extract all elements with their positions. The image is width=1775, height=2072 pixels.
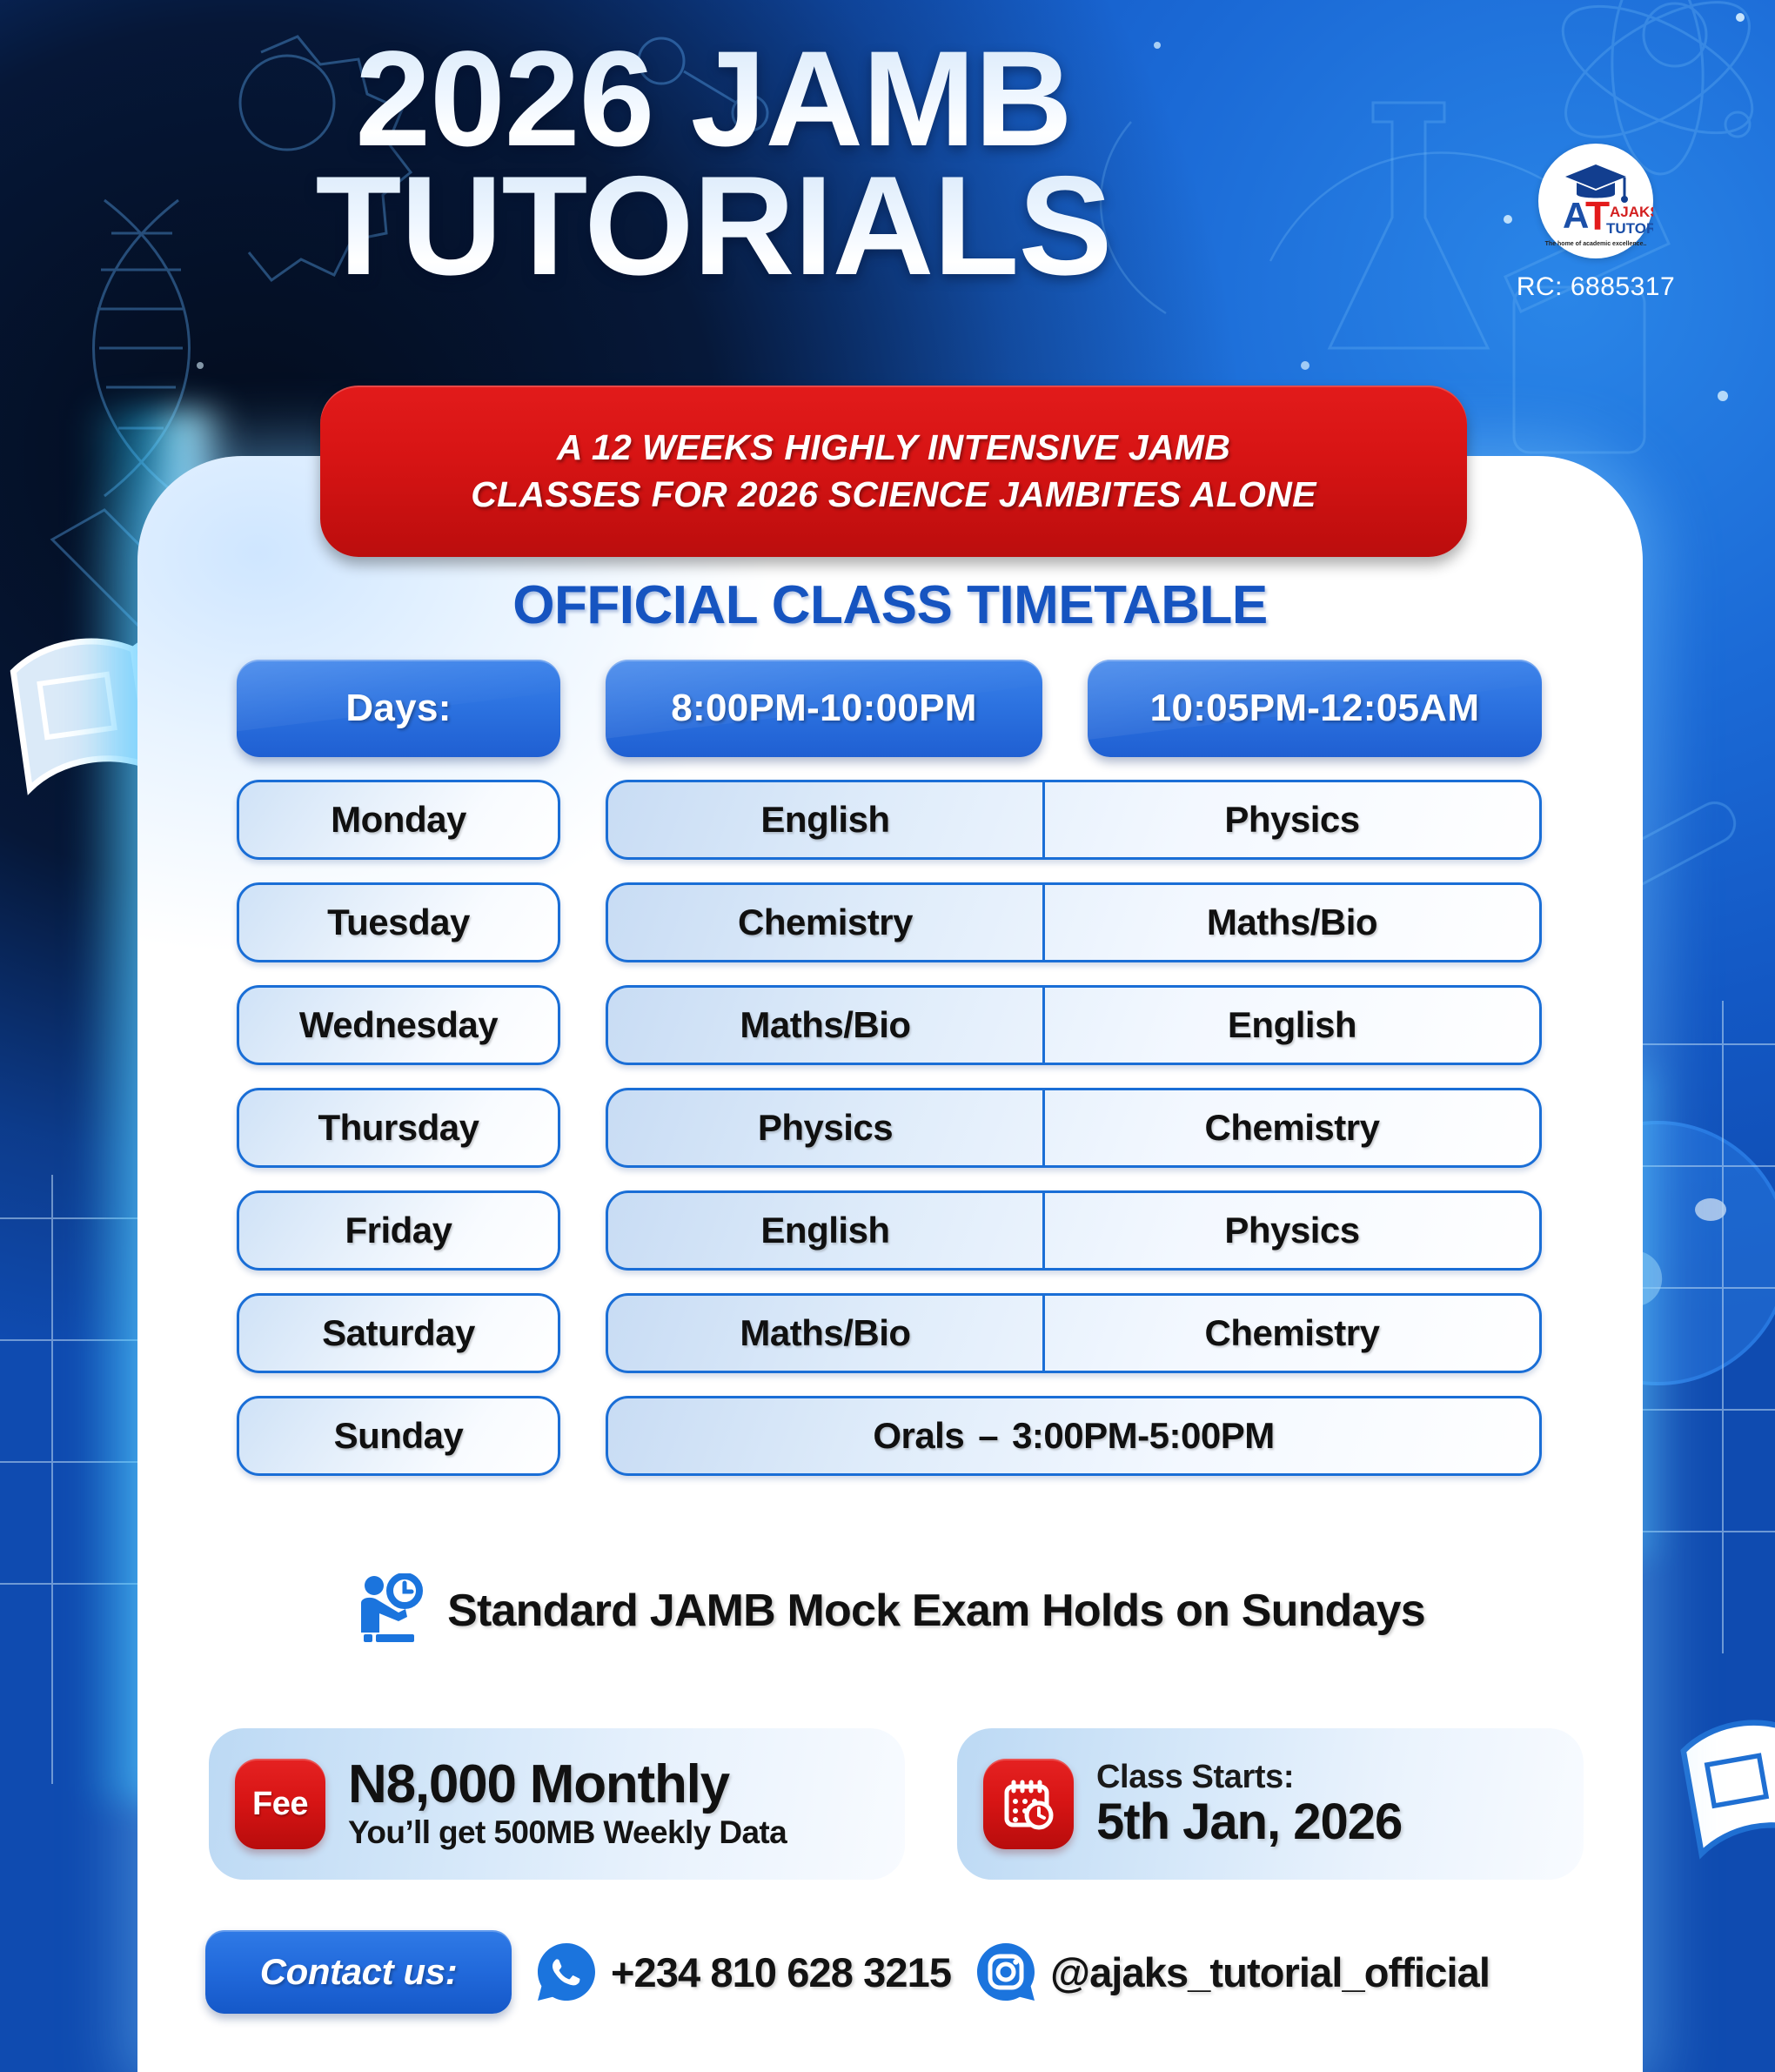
table-row: Wednesday Maths/Bio English	[237, 985, 1542, 1065]
instagram-handle[interactable]: @ajaks_tutorial_official	[1050, 1948, 1490, 1996]
phone-number[interactable]: +234 810 628 3215	[611, 1948, 951, 1996]
whatsapp-icon[interactable]	[534, 1940, 599, 2004]
subject-slot-2: Physics	[1045, 1193, 1539, 1268]
fee-badge-label: Fee	[252, 1786, 308, 1823]
promo-banner-line-2: CLASSES FOR 2026 SCIENCE JAMBITES ALONE	[471, 472, 1316, 518]
fee-data-amount: 500MB	[493, 1814, 594, 1850]
poster-title: 2026 JAMB TUTORIALS	[0, 40, 1427, 289]
subject-cells: Physics Chemistry	[606, 1088, 1542, 1168]
day-label: Monday	[331, 799, 466, 841]
subject-slot-2: Physics	[1045, 782, 1539, 857]
day-cell: Sunday	[237, 1396, 560, 1476]
svg-text:TUTORIALS: TUTORIALS	[1606, 220, 1653, 237]
timetable-header-row: Days: 8:00PM-10:00PM 10:05PM-12:05AM	[237, 660, 1542, 757]
subject-slot-1: Maths/Bio	[608, 988, 1045, 1063]
orals-label: Orals	[873, 1415, 964, 1457]
column-header-slot-2-label: 10:05PM-12:05AM	[1150, 687, 1480, 730]
day-label: Sunday	[334, 1415, 464, 1457]
subject-cells-merged: Orals – 3:00PM-5:00PM	[606, 1396, 1542, 1476]
subject-cells: Maths/Bio Chemistry	[606, 1293, 1542, 1373]
info-cards: Fee N8,000 Monthly You’ll get 500MB Week…	[209, 1728, 1584, 1880]
student-desk-clock-icon	[353, 1573, 428, 1648]
class-timetable: Days: 8:00PM-10:00PM 10:05PM-12:05AM Mon…	[237, 660, 1542, 1499]
title-line-2: TUTORIALS	[0, 164, 1427, 289]
instagram-icon[interactable]	[974, 1940, 1038, 2004]
contact-bar: Contact us: +234 810 628 3215 @ajaks_tut…	[205, 1930, 1597, 2014]
table-row: Thursday Physics Chemistry	[237, 1088, 1542, 1168]
subject-cells: English Physics	[606, 1190, 1542, 1271]
subject-slot-1: Chemistry	[608, 885, 1045, 960]
day-cell: Monday	[237, 780, 560, 860]
logo-badge: A T AJAKS TUTORIALS The home of academic…	[1538, 144, 1653, 258]
orals-time: 3:00PM-5:00PM	[1012, 1415, 1275, 1457]
day-cell: Saturday	[237, 1293, 560, 1373]
day-label: Tuesday	[327, 902, 470, 943]
day-cell: Wednesday	[237, 985, 560, 1065]
subject-slot-1: English	[608, 782, 1045, 857]
table-row-sunday: Sunday Orals – 3:00PM-5:00PM	[237, 1396, 1542, 1476]
day-label: Saturday	[322, 1312, 475, 1354]
subject-slot-2: Maths/Bio	[1045, 885, 1539, 960]
fee-badge-icon: Fee	[235, 1759, 325, 1849]
whatsapp-contact[interactable]: +234 810 628 3215	[534, 1940, 951, 2004]
poster-root: 2026 JAMB TUTORIALS A T AJAKS TUTORIALS …	[0, 0, 1775, 2072]
table-row: Tuesday Chemistry Maths/Bio	[237, 882, 1542, 962]
day-cell: Friday	[237, 1190, 560, 1271]
fee-card: Fee N8,000 Monthly You’ll get 500MB Week…	[209, 1728, 905, 1880]
subject-slot-1: Physics	[608, 1090, 1045, 1165]
instagram-contact[interactable]: @ajaks_tutorial_official	[974, 1940, 1490, 2004]
start-date-label: Class Starts:	[1096, 1760, 1402, 1795]
table-row: Monday English Physics	[237, 780, 1542, 860]
subject-slot-2: Chemistry	[1045, 1090, 1539, 1165]
start-date-value: 5th Jan, 2026	[1096, 1795, 1402, 1848]
day-cell: Tuesday	[237, 882, 560, 962]
subject-cells: Maths/Bio English	[606, 985, 1542, 1065]
brand-logo: A T AJAKS TUTORIALS The home of academic…	[1509, 144, 1683, 302]
table-row: Saturday Maths/Bio Chemistry	[237, 1293, 1542, 1373]
table-row: Friday English Physics	[237, 1190, 1542, 1271]
column-header-days-label: Days:	[345, 687, 451, 730]
subject-slot-1: Maths/Bio	[608, 1296, 1045, 1371]
mock-exam-note-text: Standard JAMB Mock Exam Holds on Sundays	[447, 1585, 1425, 1637]
page-title: OFFICIAL CLASS TIMETABLE	[137, 574, 1643, 636]
svg-text:AJAKS: AJAKS	[1610, 204, 1653, 220]
subject-slot-2: Chemistry	[1045, 1296, 1539, 1371]
column-header-days: Days:	[237, 660, 560, 757]
promo-banner: A 12 WEEKS HIGHLY INTENSIVE JAMB CLASSES…	[320, 386, 1467, 557]
day-cell: Thursday	[237, 1088, 560, 1168]
fee-subtext-suffix: Weekly Data	[595, 1814, 787, 1850]
fee-amount: N8,000 Monthly	[348, 1757, 787, 1813]
contact-us-label: Contact us:	[205, 1930, 512, 2014]
subject-slot-1: English	[608, 1193, 1045, 1268]
fee-subtext: You’ll get 500MB Weekly Data	[348, 1814, 787, 1851]
orals-separator: –	[964, 1415, 1012, 1457]
day-label: Friday	[345, 1210, 452, 1251]
start-date-card: Class Starts: 5th Jan, 2026	[957, 1728, 1584, 1880]
subject-cells: English Physics	[606, 780, 1542, 860]
rc-number: RC: 6885317	[1509, 272, 1683, 302]
column-header-slot-2: 10:05PM-12:05AM	[1088, 660, 1542, 757]
day-label: Thursday	[318, 1107, 479, 1149]
subject-cells: Chemistry Maths/Bio	[606, 882, 1542, 962]
day-label: Wednesday	[299, 1004, 498, 1046]
svg-text:The home of academic excellenc: The home of academic excellence..	[1545, 241, 1647, 247]
column-header-slot-1-label: 8:00PM-10:00PM	[671, 687, 976, 730]
subject-slot-2: English	[1045, 988, 1539, 1063]
calendar-clock-icon	[983, 1759, 1074, 1849]
mock-exam-note: Standard JAMB Mock Exam Holds on Sundays	[237, 1573, 1542, 1648]
promo-banner-line-1: A 12 WEEKS HIGHLY INTENSIVE JAMB	[557, 425, 1230, 471]
title-line-1: 2026 JAMB	[0, 40, 1427, 159]
fee-subtext-prefix: You’ll get	[348, 1814, 493, 1850]
contact-us-text: Contact us:	[260, 1951, 458, 1993]
column-header-slot-1: 8:00PM-10:00PM	[606, 660, 1042, 757]
orals-cell: Orals – 3:00PM-5:00PM	[608, 1398, 1539, 1473]
